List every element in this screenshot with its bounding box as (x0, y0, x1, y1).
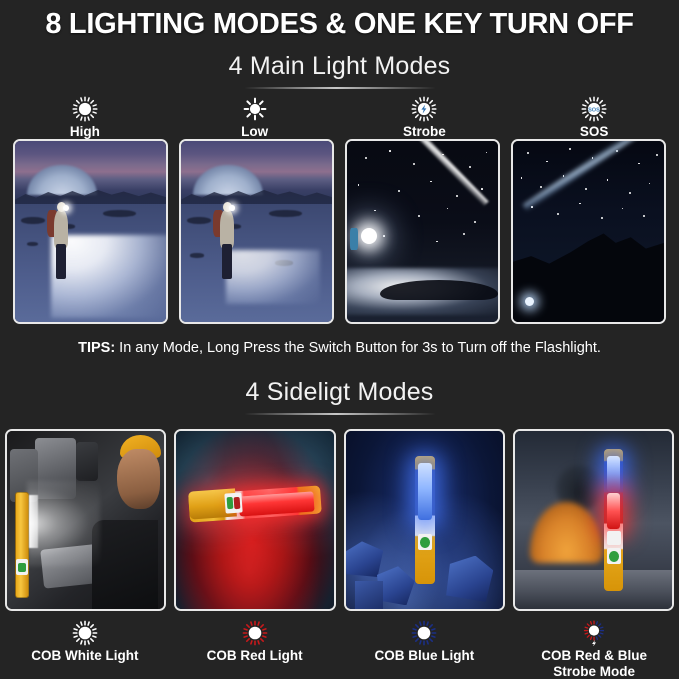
photo-panel-cob-white (5, 429, 166, 611)
mode-label-cob-white: COB White Light (31, 648, 138, 664)
sun-burst-icon (72, 96, 98, 122)
sun-burst-icon (72, 620, 98, 646)
sidelight-modes-label-row: COB White Light (0, 620, 679, 679)
mode-item-strobe: Strobe (340, 96, 510, 140)
photo-panel-high (13, 139, 168, 324)
mode-item-cob-blue: COB Blue Light (340, 620, 510, 664)
mode-label-sos: SOS (580, 124, 609, 140)
mode-label-high: High (70, 124, 100, 140)
main-modes-label-row: High Low (0, 96, 679, 140)
mode-item-high: High (0, 96, 170, 140)
heading-underline (244, 87, 436, 89)
mode-item-low: Low (170, 96, 340, 140)
main-modes-photo-row (0, 139, 679, 324)
tips-line: TIPS: In any Mode, Long Press the Switch… (0, 340, 679, 356)
mode-label-low: Low (241, 124, 268, 140)
photo-panel-sos (511, 139, 666, 324)
main-modes-heading: 4 Main Light Modes (0, 52, 679, 89)
photo-panel-cob-blue (344, 429, 505, 611)
mode-label-strobe: Strobe (403, 124, 446, 140)
photo-panel-strobe (345, 139, 500, 324)
mode-item-sos: SOS SOS (509, 96, 679, 140)
photo-panel-cob-red-blue-strobe (513, 429, 674, 611)
product-infographic: 8 LIGHTING MODES & ONE KEY TURN OFF 4 Ma… (0, 0, 679, 679)
sun-burst-blue-icon (411, 620, 437, 646)
mode-item-cob-white: COB White Light (0, 620, 170, 664)
mode-label-cob-red: COB Red Light (207, 648, 303, 664)
tips-prefix: TIPS: (78, 340, 115, 356)
mode-item-cob-red: COB Red Light (170, 620, 340, 664)
mode-label-cob-red-blue-strobe: COB Red & Blue Strobe Mode (541, 648, 647, 679)
tips-text: In any Mode, Long Press the Switch Butto… (115, 340, 601, 356)
photo-panel-cob-red (174, 429, 335, 611)
mode-item-cob-red-blue-strobe: COB Red & Blue Strobe Mode (509, 620, 679, 679)
sidelight-modes-heading-text: 4 Sideligt Modes (245, 378, 433, 412)
sidelight-modes-heading: 4 Sideligt Modes (0, 378, 679, 415)
heading-underline-2 (244, 413, 436, 415)
photo-panel-low (179, 139, 334, 324)
sun-burst-red-icon (242, 620, 268, 646)
main-modes-heading-text: 4 Main Light Modes (229, 52, 451, 86)
sun-burst-small-icon (242, 96, 268, 122)
mode-label-cob-blue: COB Blue Light (375, 648, 475, 664)
sun-burst-lightning-icon (411, 96, 437, 122)
sidelight-modes-photo-row (0, 429, 679, 611)
sun-burst-sos-icon: SOS (581, 96, 607, 122)
page-title: 8 LIGHTING MODES & ONE KEY TURN OFF (0, 8, 679, 41)
svg-text:SOS: SOS (588, 107, 600, 113)
sun-burst-red-blue-lightning-icon (581, 620, 607, 646)
